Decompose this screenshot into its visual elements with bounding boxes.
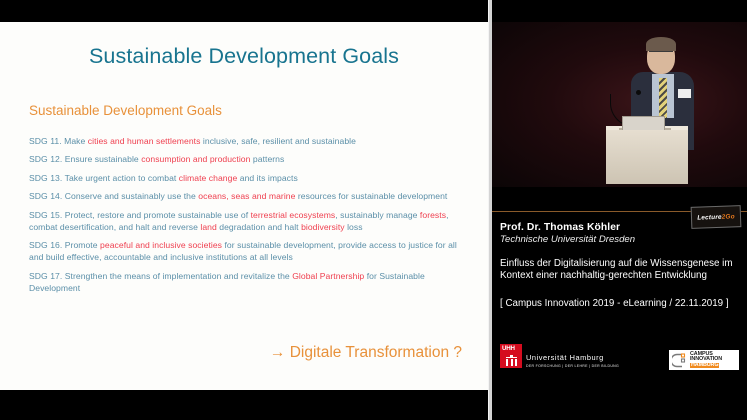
speaker-hair	[646, 37, 676, 51]
speaker-tie	[659, 78, 667, 118]
sdg-goal-number: SDG 13.	[29, 173, 62, 183]
sdg-body-text: Make	[62, 136, 88, 146]
sdg-goal-line: SDG 11. Make cities and human settlement…	[29, 135, 469, 147]
lecture2go-badge[interactable]: Lecture2Go	[691, 205, 742, 229]
sdg-body-text: inclusive, safe, resilient and sustainab…	[200, 136, 356, 146]
uhh-gate-icon	[506, 355, 517, 366]
slide-footer: TECHNISCHE UNIVERSITÄT DRESDEN KOEHLER @…	[0, 380, 488, 412]
sdg-highlight-text: Global Partnership	[292, 271, 364, 281]
sdg-goal-line: SDG 12. Ensure sustainable consumption a…	[29, 153, 469, 165]
sdg-body-text: Promote	[62, 240, 100, 250]
sdg-goal-list: SDG 11. Make cities and human settlement…	[29, 135, 469, 300]
sdg-goal-line: SDG 16. Promote peaceful and inclusive s…	[29, 239, 469, 263]
sdg-highlight-text: biodiversity	[301, 222, 345, 232]
sdg-goal-number: SDG 17.	[29, 271, 62, 281]
speaker-name: Prof. Dr. Thomas Köhler	[500, 222, 620, 233]
sdg-goal-number: SDG 14.	[29, 191, 62, 201]
sdg-body-text: Strengthen the means of implementation a…	[62, 271, 292, 281]
sdg-highlight-text: peaceful and inclusive societies	[100, 240, 222, 250]
sdg-body-text: degradation and halt	[217, 222, 301, 232]
ci-line-3: HAMBURG	[690, 363, 719, 368]
sdg-highlight-text: forests	[420, 210, 446, 220]
sdg-body-text: loss	[345, 222, 363, 232]
info-pane: Lecture2Go Prof. Dr. Thomas Köhler Techn…	[492, 0, 747, 420]
talk-title: Einfluss der Digitalisierung auf die Wis…	[500, 258, 742, 283]
sdg-body-text: patterns	[250, 154, 284, 164]
uhh-name: Universität Hamburg	[526, 353, 619, 362]
speaker-name-badge	[678, 89, 691, 98]
slide-pane: Sustainable Development Goals Sustainabl…	[0, 0, 488, 420]
call-to-action-text: → Digitale Transformation ?	[0, 344, 462, 362]
campus-innovation-logo: CAMPUS INNOVATION HAMBURG	[669, 350, 739, 370]
talk-metadata: [ Campus Innovation 2019 - eLearning / 2…	[500, 298, 742, 310]
campus-innovation-mark-icon	[672, 353, 688, 368]
ci-line-3-wrap: HAMBURG	[690, 363, 722, 368]
universitaet-hamburg-logo: UHH Universität Hamburg DER FORSCHUNG | …	[500, 344, 619, 368]
uhh-emblem-icon: UHH	[500, 344, 522, 368]
lectern	[606, 130, 688, 184]
slide-title: Sustainable Development Goals	[0, 44, 488, 69]
speaker-video[interactable]	[492, 22, 747, 187]
uhh-mark-text: UHH	[502, 345, 515, 352]
sdg-goal-line: SDG 17. Strengthen the means of implemen…	[29, 270, 469, 294]
sdg-body-text: Ensure sustainable	[62, 154, 141, 164]
slide-subtitle: Sustainable Development Goals	[29, 103, 222, 118]
sdg-highlight-text: consumption and production	[141, 154, 250, 164]
sdg-body-text: resources for sustainable development	[295, 191, 447, 201]
speaker-affiliation: Technische Universität Dresden	[500, 234, 635, 245]
presentation-slide[interactable]: Sustainable Development Goals Sustainabl…	[0, 22, 488, 390]
sdg-body-text: , sustainably manage	[335, 210, 420, 220]
pane-divider-highlight	[488, 0, 489, 420]
sdg-goal-number: SDG 16.	[29, 240, 62, 250]
campus-innovation-wordmark: CAMPUS INNOVATION HAMBURG	[690, 352, 722, 368]
sdg-body-text: Take urgent action to combat	[62, 173, 178, 183]
sdg-goal-number: SDG 11.	[29, 136, 62, 146]
sdg-body-text: and its impacts	[237, 173, 298, 183]
sdg-goal-line: SDG 14. Conserve and sustainably use the…	[29, 190, 469, 202]
sdg-goal-number: SDG 15.	[29, 210, 62, 220]
sdg-highlight-text: terrestrial ecosystems	[251, 210, 336, 220]
sdg-goal-line: SDG 15. Protect, restore and promote sus…	[29, 209, 469, 233]
sdg-highlight-text: climate change	[179, 173, 238, 183]
sdg-highlight-text: oceans, seas and marine	[198, 191, 295, 201]
speaker-glasses-icon	[649, 51, 673, 55]
uhh-claim: DER FORSCHUNG | DER LEHRE | DER BILDUNG	[526, 364, 619, 368]
lecture-video-player: Sustainable Development Goals Sustainabl…	[0, 0, 747, 420]
sdg-goal-number: SDG 12.	[29, 154, 62, 164]
uhh-wordmark: Universität Hamburg DER FORSCHUNG | DER …	[526, 344, 619, 368]
sdg-body-text: Protect, restore and promote sustainable…	[62, 210, 250, 220]
sdg-highlight-text: cities and human settlements	[88, 136, 201, 146]
sdg-body-text: Conserve and sustainably use the	[62, 191, 198, 201]
lecture2go-label: Lecture2Go	[697, 213, 735, 221]
lecture2go-prefix: Lecture	[697, 213, 722, 221]
microphone-head-icon	[636, 90, 641, 95]
sdg-highlight-text: land	[200, 222, 216, 232]
lecture2go-accent: 2Go	[722, 213, 735, 220]
sdg-goal-line: SDG 13. Take urgent action to combat cli…	[29, 172, 469, 184]
